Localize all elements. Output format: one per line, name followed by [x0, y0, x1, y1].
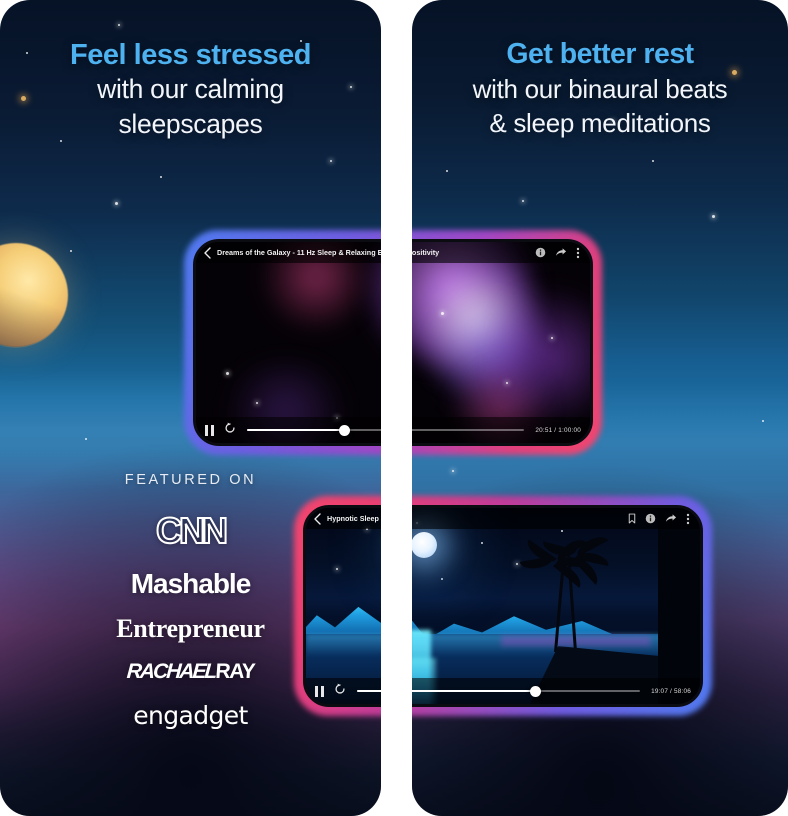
more-vertical-icon[interactable]	[576, 247, 580, 259]
star	[516, 563, 518, 565]
star	[712, 215, 715, 218]
more-vertical-icon[interactable]	[686, 513, 690, 525]
star	[118, 24, 120, 26]
star	[160, 176, 162, 178]
rachael-ray-script-text: RACHAEL	[126, 660, 216, 683]
rachael-ray-block-text: RAY	[215, 660, 255, 683]
star	[256, 402, 258, 404]
star	[452, 470, 454, 472]
panel-divider-gap	[381, 0, 412, 816]
star	[551, 337, 553, 339]
progress-fill	[247, 429, 344, 431]
star	[506, 382, 508, 384]
engadget-logo: engadget	[0, 701, 381, 730]
star	[85, 438, 87, 440]
replay-icon[interactable]	[224, 421, 236, 439]
info-icon[interactable]	[535, 247, 546, 258]
headline-sub-line2: & sleep meditations	[426, 106, 774, 140]
star	[481, 542, 483, 544]
share-icon[interactable]	[665, 513, 677, 524]
right-dark-edge	[658, 508, 700, 704]
star	[115, 202, 118, 205]
featured-on-label: FEATURED ON	[0, 472, 381, 488]
star	[446, 170, 448, 172]
share-icon[interactable]	[555, 247, 567, 258]
headline-sub-line1: with our calming	[14, 72, 367, 107]
entrepreneur-logo: Entrepreneur	[0, 614, 381, 644]
star	[70, 250, 72, 252]
star	[441, 312, 444, 315]
star	[522, 200, 524, 202]
featured-on-section: FEATURED ON CNN Mashable Entrepreneur RA…	[0, 472, 381, 743]
track-title: Dreams of the Galaxy - 11 Hz Sleep & Rel…	[217, 248, 535, 257]
left-headline: Feel less stressed with our calming slee…	[0, 38, 381, 142]
progress-scrubber-knob[interactable]	[339, 425, 350, 436]
star	[561, 530, 563, 532]
pause-icon[interactable]	[205, 425, 214, 436]
time-display: 19:07 / 58:06	[651, 688, 691, 695]
transport-controls	[205, 421, 236, 439]
back-chevron-left-icon[interactable]	[203, 247, 212, 259]
star	[762, 420, 764, 422]
headline-sub-line1: with our binaural beats	[426, 72, 774, 106]
rachael-ray-logo: RACHAELRAY	[0, 660, 381, 684]
player-actions	[535, 247, 580, 259]
star	[652, 160, 654, 162]
star	[226, 372, 229, 375]
screenshot-pair: Feel less stressed with our calming slee…	[0, 0, 788, 816]
time-display: 20:51 / 1:00:00	[535, 427, 581, 434]
mashable-logo: Mashable	[0, 568, 381, 600]
headline-accent-text: Feel less stressed	[14, 38, 367, 72]
headline-sub-line2: sleepscapes	[14, 107, 367, 142]
moon-icon	[411, 532, 437, 558]
player-actions	[628, 513, 690, 525]
cnn-logo: CNN	[0, 510, 381, 552]
info-icon[interactable]	[645, 513, 656, 524]
headline-accent-text: Get better rest	[426, 38, 774, 72]
star	[441, 578, 443, 580]
star	[330, 160, 332, 162]
right-headline: Get better rest with our binaural beats …	[412, 38, 788, 140]
bookmark-icon[interactable]	[628, 513, 636, 524]
progress-scrubber-knob[interactable]	[530, 686, 541, 697]
